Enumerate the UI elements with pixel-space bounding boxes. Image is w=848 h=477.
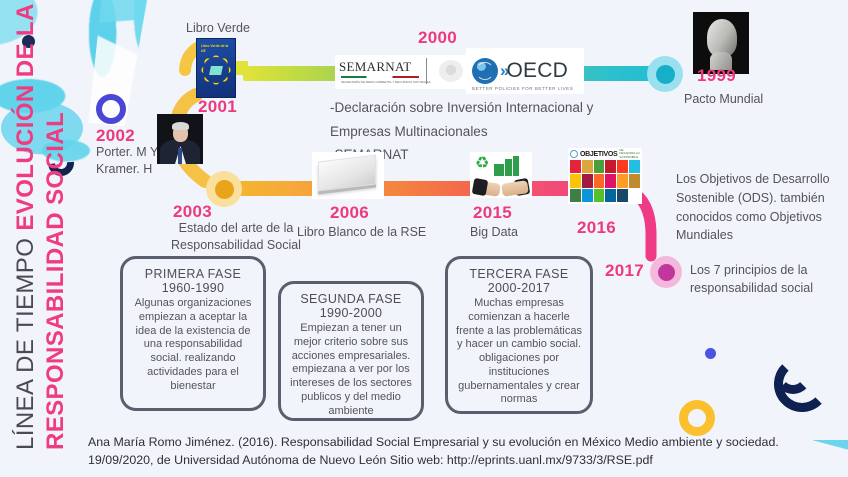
year-2006: 2006 — [330, 203, 369, 223]
sleeve-right-shape — [514, 178, 531, 196]
libro-verde-cover-text: Libro Verde de la UE — [201, 44, 232, 54]
ods-goal-tile-17 — [617, 189, 628, 202]
ods-goal-tile-5 — [617, 160, 628, 173]
oecd-tagline: BETTER POLICIES FOR BETTER LIVES — [472, 86, 573, 91]
caption-2016-line-2: Sostenible (ODS). también — [676, 189, 842, 208]
ods-sdg-goals-logo-icon: OBJETIVOS DE DESARROLLO SOSTENIBLE — [568, 148, 642, 204]
ods-logo-header: OBJETIVOS DE DESARROLLO SOSTENIBLE — [570, 149, 640, 159]
circle-marker-2017 — [650, 256, 682, 288]
phase-box-tercera: TERCERA FASE 2000-2017 Muchas empresas c… — [445, 256, 593, 414]
ods-goal-tile-15 — [594, 189, 605, 202]
ods-goal-tile-9 — [594, 174, 605, 187]
title-linea-de-tiempo: LÍNEA DE TIEMPO — [12, 238, 39, 450]
year-1999: 1999 — [697, 66, 736, 86]
un-emblem-icon — [570, 150, 578, 158]
phase-2-years: 1990-2000 — [288, 306, 414, 320]
navy-smile-arc-icon — [774, 356, 812, 394]
caption-2016-line-4: Mundiales — [676, 226, 842, 245]
ods-goal-tiles — [570, 160, 640, 202]
ods-goal-tile-7 — [570, 174, 581, 187]
libro-verde-center-shape — [209, 66, 223, 75]
handshake-icon — [474, 176, 528, 195]
title-line-plain: LÍNEA DE TIEMPO EVOLUCIÓN DE LA — [12, 3, 40, 450]
blue-dot-icon — [705, 348, 716, 359]
year-2017: 2017 — [605, 261, 644, 281]
sleeve-left-shape — [472, 178, 489, 196]
year-2000: 2000 — [418, 28, 457, 48]
phase-box-segunda: SEGUNDA FASE 1990-2000 Empiezan a tener … — [278, 281, 424, 421]
phase-3-name: TERCERA FASE — [455, 267, 583, 281]
title-line-accent-2: RESPONSABILIDAD SOCIAL — [42, 112, 70, 450]
caption-2000-line-1: -Declaración sobre Inversión Internacion… — [330, 96, 690, 120]
year-2016: 2016 — [577, 218, 616, 238]
ods-logo-title: OBJETIVOS — [580, 151, 617, 158]
infographic-canvas: LÍNEA DE TIEMPO EVOLUCIÓN DE LA RESPONSA… — [0, 0, 848, 477]
semarnat-logo-icon: SEMARNAT SECRETARÍA DE MEDIO AMBIENTE Y … — [335, 55, 485, 89]
year-2015: 2015 — [473, 203, 512, 223]
year-2001: 2001 — [198, 97, 237, 117]
citation-line-2: 19/09/2020, de Universidad Autónoma de N… — [88, 452, 788, 470]
phase-2-body: Empiezan a tener un mejor criterio sobre… — [288, 322, 414, 418]
caption-2017-line-1: Los 7 principios de la — [690, 261, 845, 279]
caption-2017: Los 7 principios de la responsabilidad s… — [690, 261, 845, 297]
citation-block: Ana María Romo Jiménez. (2016). Responsa… — [88, 434, 788, 470]
ods-goal-tile-10 — [605, 174, 616, 187]
title-evolucion-de-la: EVOLUCIÓN DE LA — [12, 3, 39, 230]
portrait-hair-shape — [172, 122, 189, 130]
libro-blanco-white-book-icon — [312, 152, 384, 199]
portrait-tie-shape — [178, 148, 182, 164]
mexico-government-seal-icon — [439, 60, 463, 82]
year-2002: 2002 — [96, 126, 135, 146]
caption-2002-line-1: Porter. M Y — [96, 144, 158, 161]
ods-goal-tile-3 — [594, 160, 605, 173]
caption-2002: Porter. M Y Kramer. H — [96, 144, 158, 178]
porter-kramer-portrait — [157, 114, 203, 164]
caption-2015: Big Data — [470, 224, 518, 241]
oecd-chevron-icon: » — [500, 61, 505, 81]
ods-goal-tile-12 — [629, 174, 640, 187]
year-2003: 2003 — [173, 202, 212, 222]
title-responsabilidad-social: RESPONSABILIDAD SOCIAL — [42, 112, 69, 450]
pacto-mundial-bust-photo — [693, 12, 749, 74]
caption-pacto-mundial: Pacto Mundial — [684, 91, 763, 108]
oecd-wordmark: OECD — [506, 59, 567, 83]
ods-goal-tile-8 — [582, 174, 593, 187]
caption-2016: Los Objetivos de Desarrollo Sostenible (… — [676, 170, 842, 245]
ods-goal-tile-6 — [629, 160, 640, 173]
semarnat-flag-rule — [341, 76, 419, 78]
factory-icon — [494, 156, 524, 176]
ods-goal-tile-18 — [629, 189, 640, 202]
ods-goal-tile-11 — [617, 174, 628, 187]
caption-2016-line-1: Los Objetivos de Desarrollo — [676, 170, 842, 189]
ods-goal-tile-16 — [605, 189, 616, 202]
phase-3-years: 2000-2017 — [455, 281, 583, 295]
ods-goal-tile-1 — [570, 160, 581, 173]
phase-2-name: SEGUNDA FASE — [288, 292, 414, 306]
ods-goal-tile-13 — [570, 189, 581, 202]
caption-2016-line-3: conocidos como Objetivos — [676, 208, 842, 227]
big-data-recycling-handshake-icon: ♻ — [470, 152, 532, 198]
ods-goal-tile-14 — [582, 189, 593, 202]
citation-line-1: Ana María Romo Jiménez. (2016). Responsa… — [88, 434, 788, 452]
semarnat-subtitle: SECRETARÍA DE MEDIO AMBIENTE Y RECURSOS … — [341, 80, 431, 84]
caption-2006: Libro Blanco de la RSE — [297, 224, 426, 241]
logo-divider — [426, 58, 427, 84]
phase-box-primera: PRIMERA FASE 1960-1990 Algunas organizac… — [120, 256, 266, 411]
caption-2002-line-2: Kramer. H — [96, 161, 158, 178]
yellow-ring-icon — [679, 400, 715, 436]
phase-1-name: PRIMERA FASE — [130, 267, 256, 281]
caption-2000-line-2: Empresas Multinacionales — [330, 120, 690, 144]
ods-goal-tile-2 — [582, 160, 593, 173]
oecd-logo-icon: » OECD BETTER POLICIES FOR BETTER LIVES — [466, 48, 584, 94]
oecd-globe-icon — [472, 58, 498, 84]
libro-verde-book-cover-icon: Libro Verde de la UE — [196, 38, 236, 98]
ring-marker-2002 — [96, 94, 126, 124]
ods-goal-tile-4 — [605, 160, 616, 173]
phase-1-body: Algunas organizaciones empiezan a acepta… — [130, 297, 256, 393]
ods-logo-subtitle: DE DESARROLLO SOSTENIBLE — [619, 149, 640, 159]
caption-libro-verde: Libro Verde — [186, 20, 250, 37]
page-title: LÍNEA DE TIEMPO EVOLUCIÓN DE LA RESPONSA… — [12, 0, 122, 477]
semarnat-wordmark: SEMARNAT — [339, 59, 411, 75]
caption-2017-line-2: responsabilidad social — [690, 279, 845, 297]
timeline-node-1999 — [647, 56, 683, 92]
phase-1-years: 1960-1990 — [130, 281, 256, 295]
phase-3-body: Muchas empresas comienzan a hacerle fren… — [455, 297, 583, 407]
recycle-icon: ♻ — [475, 156, 492, 172]
